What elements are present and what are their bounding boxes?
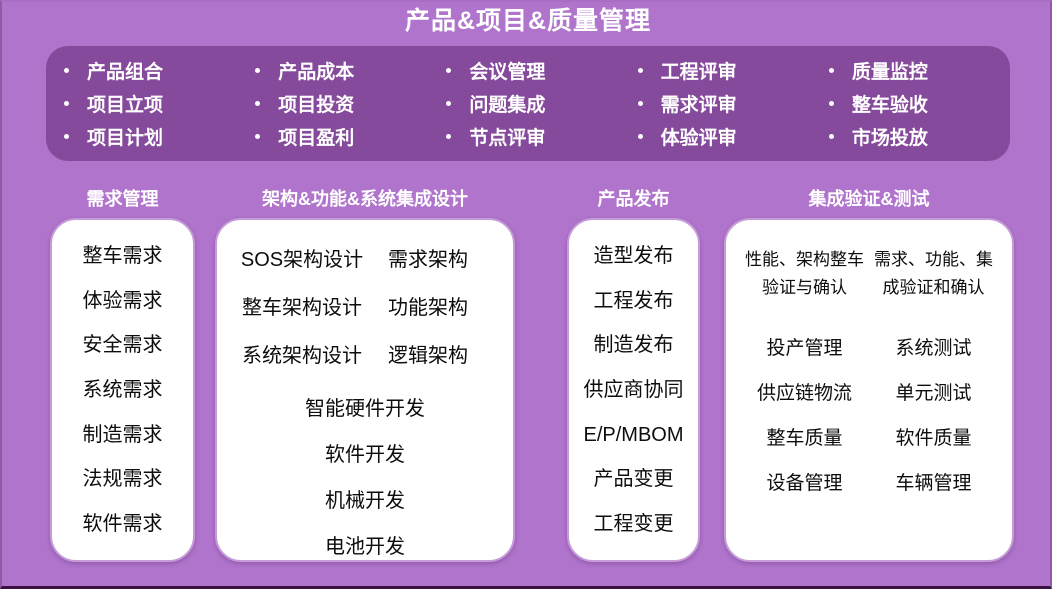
list-item[interactable]: 功能架构: [365, 284, 491, 332]
banner-item[interactable]: 产品组合: [64, 54, 241, 87]
card-release: 造型发布 工程发布 制造发布 供应商协同 E/P/MBOM 产品变更 工程变更: [567, 218, 700, 562]
validation-pair-line2: 成验证和确认: [871, 274, 996, 302]
page-title: 产品&项目&质量管理: [2, 6, 1052, 36]
banner-column-3: 会议管理 问题集成 节点评审: [432, 54, 623, 153]
validation-pair-row: 性能、架构整车 验证与确认 需求、功能、集 成验证和确认: [726, 220, 1012, 302]
list-item[interactable]: 产品变更: [594, 466, 674, 492]
banner-item[interactable]: 需求评审: [638, 87, 815, 120]
list-item[interactable]: 需求架构: [365, 236, 491, 284]
column-header-release: 产品发布: [567, 188, 700, 210]
card-validation: 性能、架构整车 验证与确认 需求、功能、集 成验证和确认 投产管理 系统测试 供…: [724, 218, 1014, 562]
list-item[interactable]: 制造需求: [83, 422, 163, 448]
list-item[interactable]: 供应链物流: [740, 371, 869, 416]
validation-pair-line1: 性能、架构整车: [742, 246, 867, 274]
list-item[interactable]: 软件需求: [83, 511, 163, 537]
list-item[interactable]: 车辆管理: [869, 461, 998, 506]
bullet-dot-icon: [446, 101, 451, 106]
banner-item[interactable]: 整车验收: [829, 87, 1006, 120]
validation-pair-item[interactable]: 性能、架构整车 验证与确认: [742, 246, 867, 302]
validation-grid: 投产管理 系统测试 供应链物流 单元测试 整车质量 软件质量 设备管理 车辆管理: [726, 302, 1012, 506]
banner-item-label: 工程评审: [661, 57, 737, 84]
list-item[interactable]: 工程变更: [594, 511, 674, 537]
card-architecture: SOS架构设计 需求架构 整车架构设计 功能架构 系统架构设计 逻辑架构 智能硬…: [215, 218, 515, 562]
banner-item[interactable]: 项目计划: [64, 120, 241, 153]
column-header-validation: 集成验证&测试: [724, 188, 1014, 210]
card-requirements: 整车需求 体验需求 安全需求 系统需求 制造需求 法规需求 软件需求: [50, 218, 195, 562]
bullet-dot-icon: [255, 68, 260, 73]
banner-item-label: 项目立项: [87, 90, 163, 117]
banner-column-4: 工程评审 需求评审 体验评审: [624, 54, 815, 153]
banner-item-label: 整车验收: [852, 90, 928, 117]
banner-item[interactable]: 会议管理: [446, 54, 623, 87]
banner-item[interactable]: 项目盈利: [255, 120, 432, 153]
list-item[interactable]: 单元测试: [869, 371, 998, 416]
architecture-grid: SOS架构设计 需求架构 整车架构设计 功能架构 系统架构设计 逻辑架构: [217, 220, 513, 380]
list-item[interactable]: 电池开发: [325, 524, 405, 562]
column-header-requirements: 需求管理: [50, 188, 195, 210]
bullet-dot-icon: [64, 68, 69, 73]
bullet-dot-icon: [64, 101, 69, 106]
bullet-dot-icon: [255, 134, 260, 139]
list-item[interactable]: 供应商协同: [584, 377, 684, 403]
list-item[interactable]: 逻辑架构: [365, 332, 491, 380]
column-header-architecture: 架构&功能&系统集成设计: [215, 188, 515, 210]
list-item[interactable]: 整车质量: [740, 416, 869, 461]
bullet-dot-icon: [638, 101, 643, 106]
bullet-dot-icon: [446, 134, 451, 139]
list-item[interactable]: 设备管理: [740, 461, 869, 506]
list-item[interactable]: 系统测试: [869, 326, 998, 371]
list-item[interactable]: 软件质量: [869, 416, 998, 461]
bullet-dot-icon: [64, 134, 69, 139]
banner-item[interactable]: 节点评审: [446, 120, 623, 153]
banner-item-label: 市场投放: [852, 123, 928, 150]
banner-item-label: 项目盈利: [278, 123, 354, 150]
banner-column-1: 产品组合 项目立项 项目计划: [50, 54, 241, 153]
banner-item[interactable]: 工程评审: [638, 54, 815, 87]
top-banner: 产品组合 项目立项 项目计划 产品成本 项目投资 项目盈利: [46, 46, 1010, 161]
bullet-dot-icon: [829, 68, 834, 73]
bullet-dot-icon: [638, 134, 643, 139]
banner-item-label: 体验评审: [661, 123, 737, 150]
list-item[interactable]: 造型发布: [594, 243, 674, 269]
list-item[interactable]: 法规需求: [83, 466, 163, 492]
validation-pair-item[interactable]: 需求、功能、集 成验证和确认: [871, 246, 996, 302]
banner-item-label: 节点评审: [469, 123, 545, 150]
list-item[interactable]: 工程发布: [594, 288, 674, 314]
list-item[interactable]: 投产管理: [740, 326, 869, 371]
banner-item-label: 产品组合: [87, 57, 163, 84]
banner-item-label: 问题集成: [469, 90, 545, 117]
list-item[interactable]: 机械开发: [325, 478, 405, 524]
banner-item-label: 项目计划: [87, 123, 163, 150]
list-item[interactable]: 制造发布: [594, 332, 674, 358]
banner-item[interactable]: 项目投资: [255, 87, 432, 120]
validation-pair-line2: 验证与确认: [742, 274, 867, 302]
banner-column-2: 产品成本 项目投资 项目盈利: [241, 54, 432, 153]
list-item[interactable]: 智能硬件开发: [305, 386, 425, 432]
bullet-dot-icon: [255, 101, 260, 106]
list-item[interactable]: E/P/MBOM: [583, 422, 683, 448]
bullet-dot-icon: [829, 101, 834, 106]
banner-item[interactable]: 项目立项: [64, 87, 241, 120]
validation-pair-line1: 需求、功能、集: [871, 246, 996, 274]
banner-item[interactable]: 问题集成: [446, 87, 623, 120]
bullet-dot-icon: [638, 68, 643, 73]
diagram-canvas: 产品&项目&质量管理 产品组合 项目立项 项目计划 产品成本: [0, 0, 1052, 589]
banner-item[interactable]: 体验评审: [638, 120, 815, 153]
list-item[interactable]: 整车架构设计: [239, 284, 365, 332]
banner-item[interactable]: 产品成本: [255, 54, 432, 87]
bullet-dot-icon: [446, 68, 451, 73]
bullet-dot-icon: [829, 134, 834, 139]
list-item[interactable]: 体验需求: [83, 288, 163, 314]
banner-item[interactable]: 市场投放: [829, 120, 1006, 153]
banner-item-label: 项目投资: [278, 90, 354, 117]
architecture-list: 智能硬件开发 软件开发 机械开发 电池开发: [217, 380, 513, 562]
banner-column-5: 质量监控 整车验收 市场投放: [815, 54, 1006, 153]
list-item[interactable]: 系统需求: [83, 377, 163, 403]
banner-item[interactable]: 质量监控: [829, 54, 1006, 87]
list-item[interactable]: SOS架构设计: [239, 236, 365, 284]
banner-item-label: 质量监控: [852, 57, 928, 84]
list-item[interactable]: 安全需求: [83, 332, 163, 358]
list-item[interactable]: 整车需求: [83, 243, 163, 269]
banner-item-label: 会议管理: [469, 57, 545, 84]
banner-item-label: 产品成本: [278, 57, 354, 84]
list-item[interactable]: 系统架构设计: [239, 332, 365, 380]
list-item[interactable]: 软件开发: [325, 432, 405, 478]
banner-item-label: 需求评审: [661, 90, 737, 117]
